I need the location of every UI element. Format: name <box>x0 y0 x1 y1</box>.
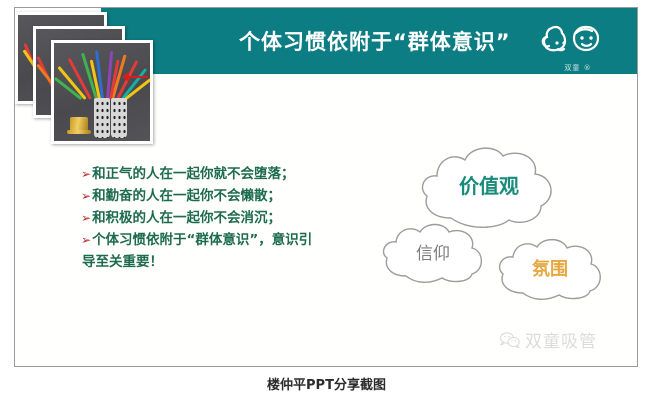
list-item-label: 个体习惯依附于“群体意识”，意识引 <box>92 232 312 249</box>
bullet-arrow-icon: ➢ <box>81 166 91 183</box>
watermark: 双童吸管 <box>499 327 597 352</box>
photo-image-front <box>54 43 150 141</box>
image-caption: 楼仲平PPT分享截图 <box>0 374 653 393</box>
cloud-label: 信仰 <box>378 239 488 264</box>
cloud-faith: 信仰 <box>378 220 488 286</box>
cloud-values: 价值观 <box>415 140 563 232</box>
wechat-icon <box>499 331 521 349</box>
list-item: ➢ 和正气的人在一起你就不会堕落； <box>81 166 371 183</box>
cloud-label: 氛围 <box>493 255 607 281</box>
bullet-arrow-icon: ➢ <box>81 210 91 227</box>
cloud-label: 价值观 <box>415 170 563 199</box>
slide-title: 个体习惯依附于“群体意识” <box>239 26 511 56</box>
list-item-label: 和积极的人在一起你不会消沉； <box>92 210 281 227</box>
list-item-continuation: 导至关重要！ <box>81 254 371 271</box>
bullet-arrow-icon: ➢ <box>81 232 91 249</box>
cloud-atmosphere: 氛围 <box>493 236 607 302</box>
list-item: ➢ 和勤奋的人在一起你不会懒散； <box>81 188 371 205</box>
watermark-label: 双童吸管 <box>525 327 597 352</box>
shuangtong-twin-kids-logo: 双童 ® <box>541 14 615 72</box>
logo-label: 双童 ® <box>541 63 615 73</box>
list-item-label: 导至关重要！ <box>82 254 163 271</box>
list-item-label: 和勤奋的人在一起你不会懒散； <box>92 188 281 205</box>
list-item: ➢ 和积极的人在一起你不会消沉； <box>81 210 371 227</box>
presentation-slide: 个体习惯依附于“群体意识” 双童 ® <box>14 7 638 367</box>
bullet-arrow-icon: ➢ <box>81 188 91 205</box>
list-item-label: 和正气的人在一起你就不会堕落； <box>92 166 295 183</box>
slide-header-bar: 个体习惯依附于“群体意识” 双童 ® <box>101 8 637 74</box>
bullet-list: ➢ 和正气的人在一起你就不会堕落； ➢ 和勤奋的人在一起你不会懒散； ➢ 和积极… <box>81 166 371 276</box>
photo-thumbnail-front <box>51 40 153 144</box>
list-item: ➢ 个体习惯依附于“群体意识”，意识引 <box>81 232 371 249</box>
